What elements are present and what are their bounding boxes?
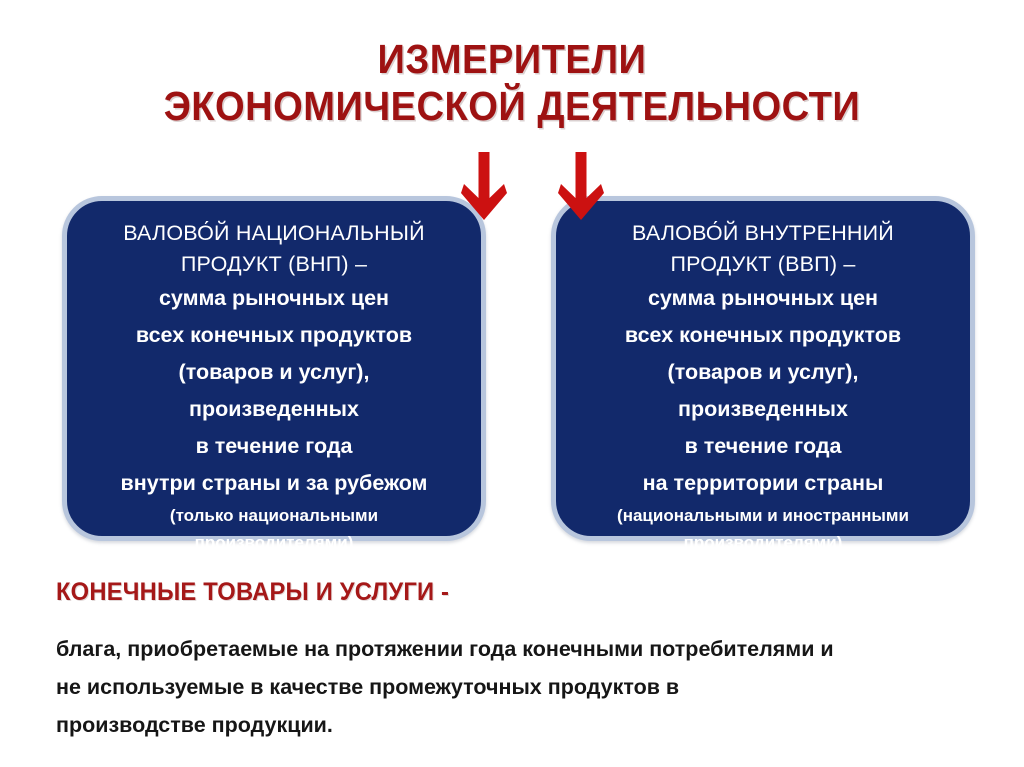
gnp-body-line-6: внутри страны и за рубежом (121, 465, 428, 502)
gnp-body-line-1: сумма рыночных цен (159, 280, 389, 317)
gnp-note-line-1: (только национальными (170, 502, 378, 529)
gnp-definition-box: ВАЛОВО́Й НАЦИОНАЛЬНЫЙ ПРОДУКТ (ВНП) – су… (62, 196, 486, 541)
gdp-heading-line-2: ПРОДУКТ (ВВП) – (670, 249, 855, 280)
gdp-body-line-5: в течение года (685, 428, 842, 465)
gnp-body-line-5: в течение года (196, 428, 353, 465)
gnp-note-line-2: производителями) (195, 529, 354, 556)
gdp-heading-line-1: ВАЛОВО́Й ВНУТРЕННИЙ (632, 218, 894, 249)
red-down-arrow-icon-right (558, 152, 604, 240)
gdp-body-line-2: всех конечных продуктов (625, 317, 901, 354)
red-down-arrow-icon-left (461, 152, 507, 240)
slide-canvas: ИЗМЕРИТЕЛИ ЭКОНОМИЧЕСКОЙ ДЕЯТЕЛЬНОСТИ ВА… (0, 0, 1024, 767)
gdp-note-line-1: (национальными и иностранными (617, 502, 909, 529)
gnp-body-line-2: всех конечных продуктов (136, 317, 412, 354)
final-goods-line-3: производстве продукции. (56, 706, 986, 744)
gnp-body-line-4: произведенных (189, 391, 359, 428)
final-goods-line-1: блага, приобретаемые на протяжении года … (56, 630, 986, 668)
gdp-body-line-1: сумма рыночных цен (648, 280, 878, 317)
gdp-body-line-6: на территории страны (643, 465, 884, 502)
page-title: ИЗМЕРИТЕЛИ ЭКОНОМИЧЕСКОЙ ДЕЯТЕЛЬНОСТИ (0, 36, 1024, 130)
gnp-body-line-3: (товаров и услуг), (179, 354, 370, 391)
gdp-definition-box: ВАЛОВО́Й ВНУТРЕННИЙ ПРОДУКТ (ВВП) – сумм… (551, 196, 975, 541)
title-line-2: ЭКОНОМИЧЕСКОЙ ДЕЯТЕЛЬНОСТИ (36, 83, 988, 130)
final-goods-line-2: не используемые в качестве промежуточных… (56, 668, 986, 706)
gdp-body-line-3: (товаров и услуг), (668, 354, 859, 391)
gnp-heading-line-1: ВАЛОВО́Й НАЦИОНАЛЬНЫЙ (123, 218, 425, 249)
gdp-note-line-2: производителями) (684, 529, 843, 556)
gdp-body-line-4: произведенных (678, 391, 848, 428)
final-goods-heading: КОНЕЧНЫЕ ТОВАРЫ И УСЛУГИ - (56, 578, 449, 607)
gnp-heading-line-2: ПРОДУКТ (ВНП) – (181, 249, 367, 280)
title-line-1: ИЗМЕРИТЕЛИ (36, 36, 988, 83)
final-goods-definition: блага, приобретаемые на протяжении года … (56, 630, 986, 744)
